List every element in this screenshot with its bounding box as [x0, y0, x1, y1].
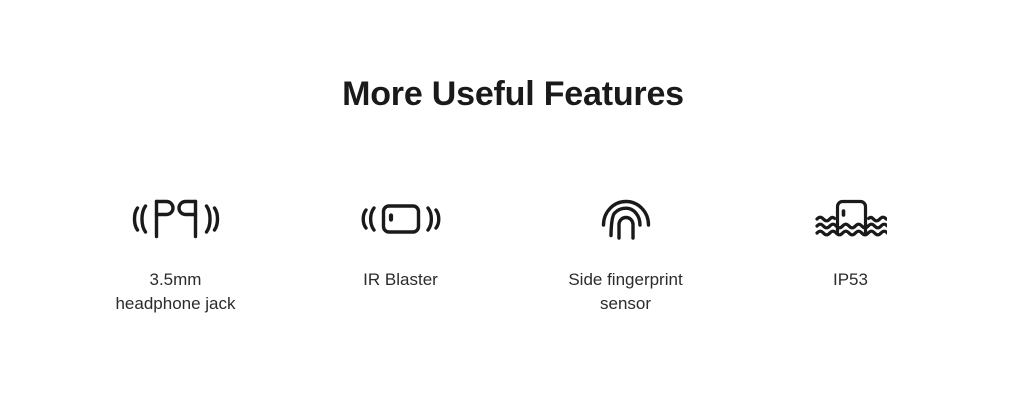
water-resistant-phone-icon — [815, 188, 887, 250]
page-title: More Useful Features — [0, 74, 1026, 114]
feature-label: IR Blaster — [363, 268, 438, 292]
fingerprint-icon — [600, 188, 652, 250]
earbuds-waves-icon — [123, 188, 229, 250]
more-useful-features-section: More Useful Features — [0, 0, 1026, 407]
feature-label: 3.5mm headphone jack — [115, 268, 235, 316]
feature-label: IP53 — [833, 268, 868, 292]
features-list: 3.5mm headphone jack IR Blaster — [63, 188, 963, 316]
feature-item-ip53: IP53 — [738, 188, 963, 292]
feature-item-fingerprint: Side fingerprint sensor — [513, 188, 738, 316]
feature-label: Side fingerprint sensor — [568, 268, 682, 316]
ir-blaster-icon — [356, 188, 446, 250]
feature-item-headphone-jack: 3.5mm headphone jack — [63, 188, 288, 316]
feature-item-ir-blaster: IR Blaster — [288, 188, 513, 292]
